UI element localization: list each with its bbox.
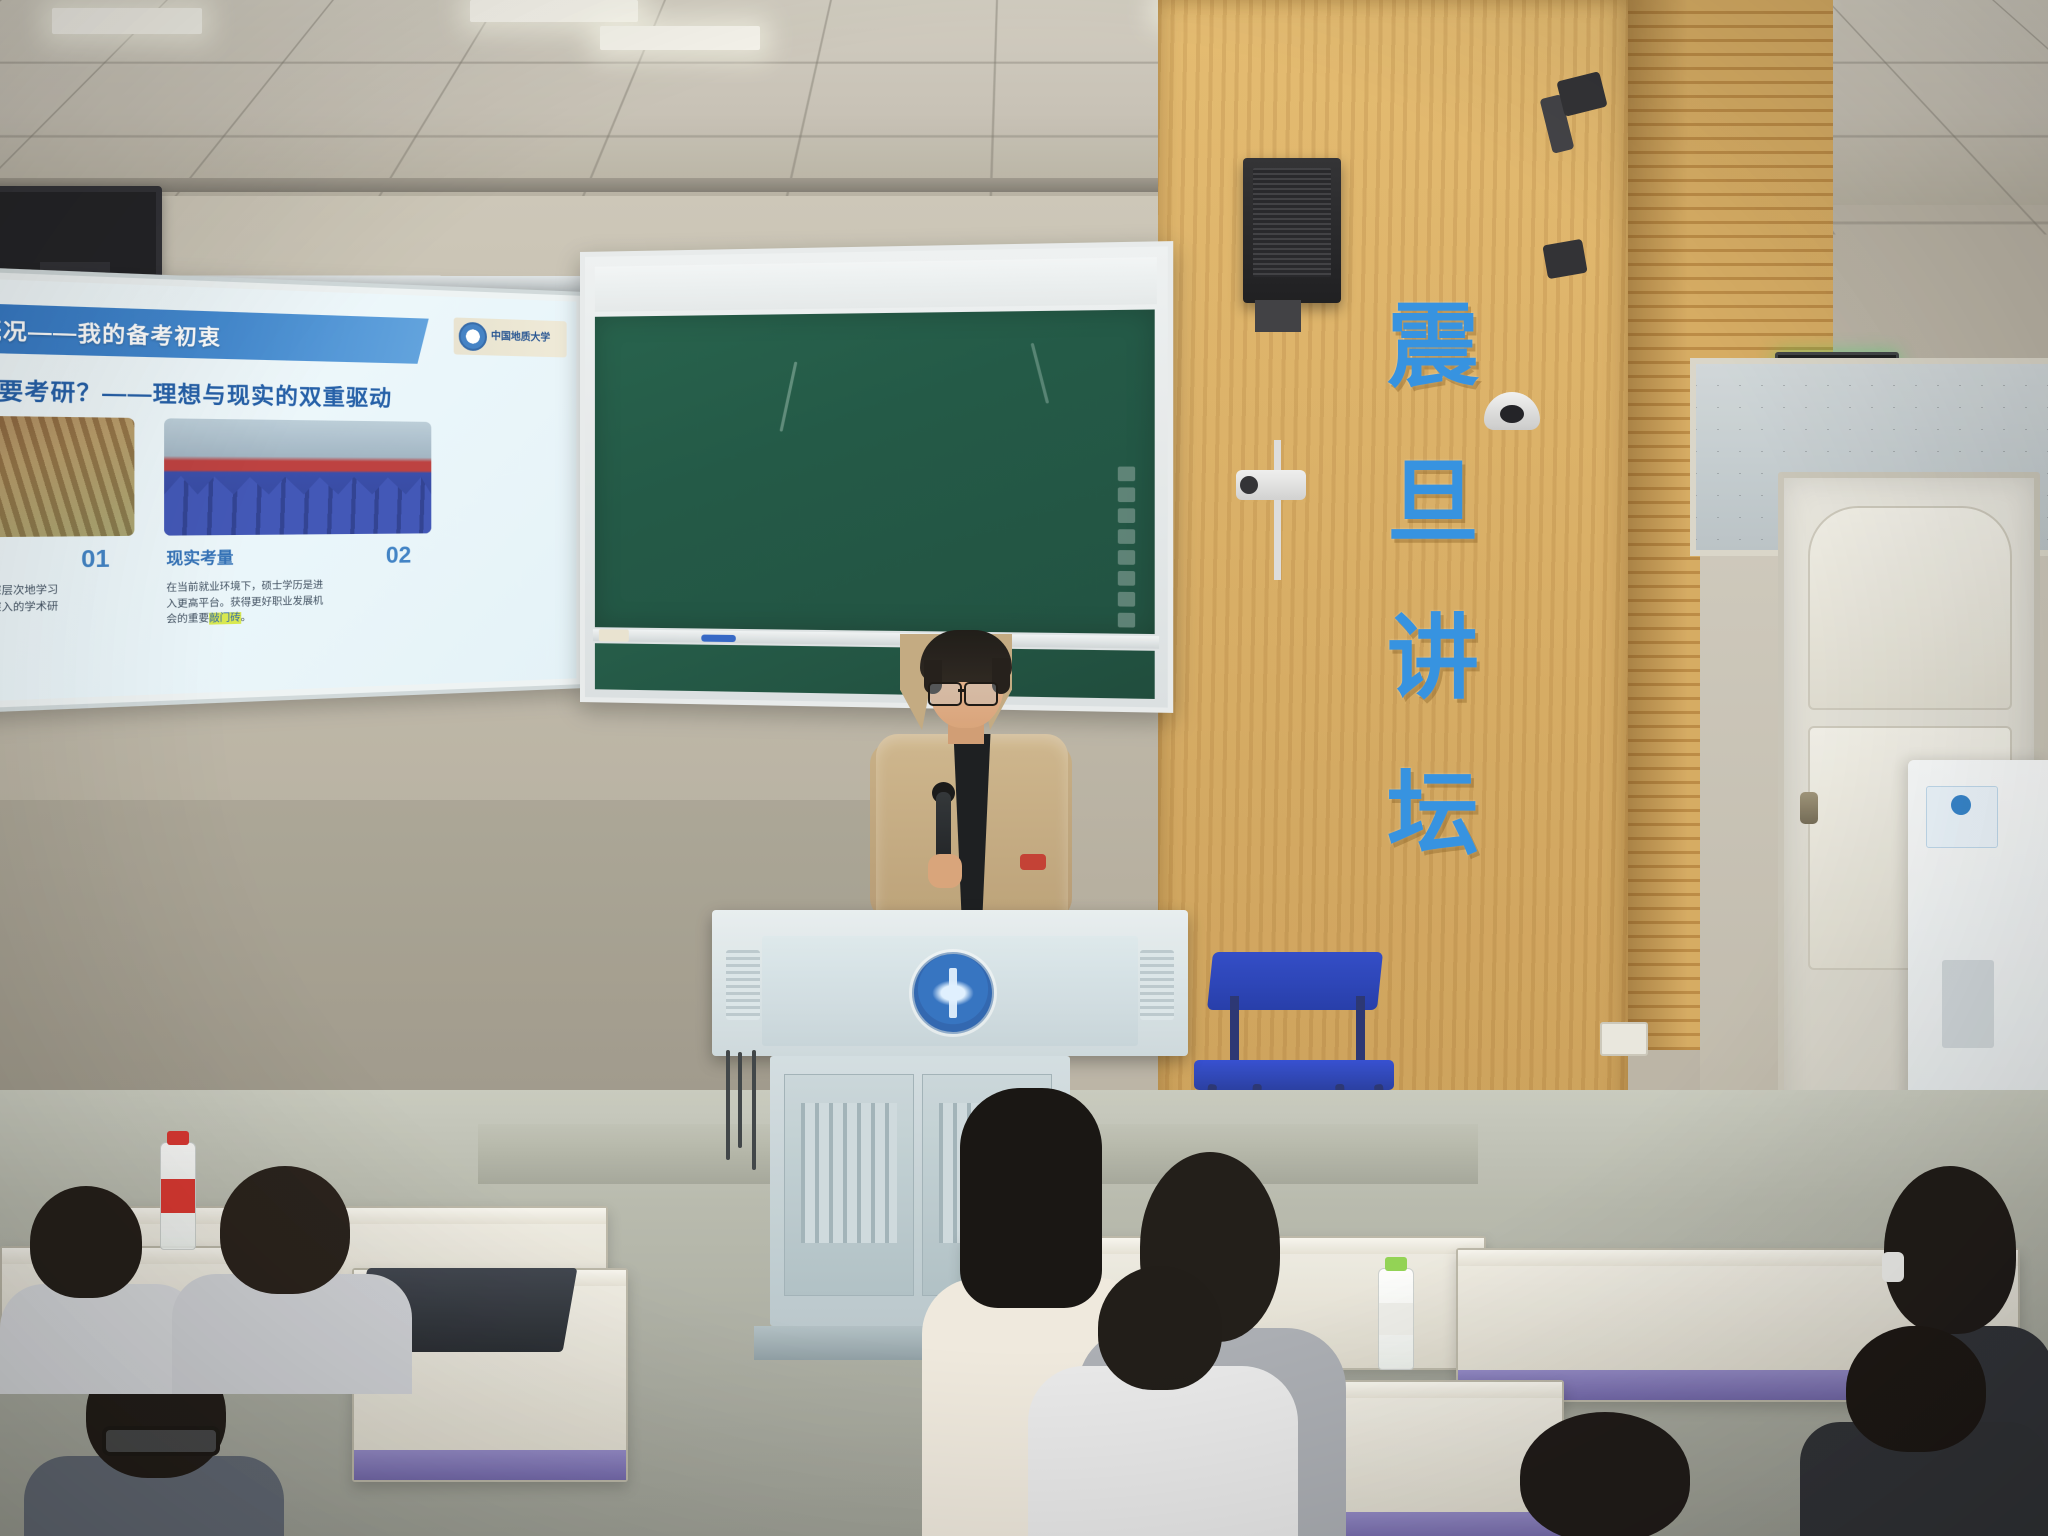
slide-photo-exam-site xyxy=(164,418,431,535)
presentation-slide: 考概况——我的备考初衷 中国地质大学 什么要考研？——理想与现实的双重驱动 01… xyxy=(0,277,576,703)
door-panel-upper xyxy=(1808,506,2012,710)
ceiling-light-2 xyxy=(470,0,638,22)
audience-head xyxy=(220,1166,350,1294)
water-bottle-right[interactable] xyxy=(1378,1268,1414,1370)
slide-subtitle: 什么要考研？——理想与现实的双重驱动 xyxy=(0,372,392,413)
blackboard-button-4[interactable] xyxy=(1118,529,1135,544)
slide-logo-text: 中国地质大学 xyxy=(491,332,550,344)
cabinet-label-sticker xyxy=(1926,786,1998,848)
podium-speaker-grill-right xyxy=(1140,950,1174,1020)
wood-slat-shadow xyxy=(1628,0,1688,1050)
ceiling-light-1 xyxy=(52,8,202,34)
slide-column-2-number: 02 xyxy=(386,542,411,569)
podium-speaker-grill-left xyxy=(726,950,760,1020)
desk-purple-front xyxy=(354,1450,626,1480)
podium-vent-left xyxy=(801,1103,897,1243)
audience-member-center-white-shirt xyxy=(1028,1266,1298,1536)
audience-member-left-3 xyxy=(172,1166,412,1386)
ceiling-beam xyxy=(0,178,1250,192)
door-handle[interactable] xyxy=(1800,792,1818,824)
speaker-glasses-bridge xyxy=(958,689,966,692)
slide-column-2-highlight: 敲门砖 xyxy=(209,613,241,626)
wall-speaker-bracket xyxy=(1255,300,1301,332)
blackboard-button-7[interactable] xyxy=(1118,592,1135,607)
ceiling-light-3 xyxy=(600,26,760,50)
eraser[interactable] xyxy=(599,629,629,641)
earphone-icon xyxy=(1882,1252,1904,1282)
cabinet-control-panel[interactable] xyxy=(1942,960,1994,1048)
slide-column-1-number: 01 xyxy=(81,545,110,574)
audience-head xyxy=(1520,1412,1690,1536)
speaker-hair xyxy=(920,630,1012,682)
blackboard-button-3[interactable] xyxy=(1118,508,1135,523)
podium-cable-3 xyxy=(752,1050,756,1170)
audience-body xyxy=(1028,1366,1298,1536)
audience-glasses xyxy=(102,1426,220,1456)
blackboard-writing-surface xyxy=(595,309,1155,634)
blackboard-button-1[interactable] xyxy=(1118,467,1135,482)
blackboard-upper-panel xyxy=(595,257,1157,312)
audience-head xyxy=(1846,1326,1986,1452)
blackboard-button-2[interactable] xyxy=(1118,487,1135,502)
wall-power-outlet[interactable] xyxy=(1600,1022,1648,1056)
chalk-mark xyxy=(779,361,797,431)
audience-head xyxy=(1098,1266,1222,1390)
podium-door-left[interactable] xyxy=(784,1074,914,1296)
wall-character-4: 坛 xyxy=(1387,768,1479,860)
slide-column-2-body-tail: 。 xyxy=(241,612,251,624)
speaker-person xyxy=(860,630,1090,930)
podium-cable-1 xyxy=(726,1050,730,1160)
podium-university-seal xyxy=(912,952,994,1034)
bottle-cap-icon xyxy=(167,1131,189,1145)
blackboard-button-5[interactable] xyxy=(1118,550,1135,565)
speaker-hand xyxy=(928,854,962,888)
wall-lecture-forum-characters: 震 旦 讲 坛 xyxy=(1358,300,1508,860)
lecture-hall-photo: 震 旦 讲 坛 考概况——我的备考初衷 中国地质大学 什么要考研？——理想与现实… xyxy=(0,0,2048,1536)
wall-character-2: 旦 xyxy=(1387,456,1479,548)
speaker-wristwatch xyxy=(1020,854,1046,870)
bottle-label xyxy=(1379,1303,1413,1335)
chair-seat xyxy=(1194,1060,1394,1090)
audience-member-right-dark xyxy=(1800,1326,2048,1536)
podium-cable-2 xyxy=(738,1052,742,1148)
blackboard-button-6[interactable] xyxy=(1118,571,1135,586)
wall-character-1: 震 xyxy=(1387,300,1479,392)
wall-character-3: 讲 xyxy=(1387,612,1479,704)
projection-screen: 考概况——我的备考初衷 中国地质大学 什么要考研？——理想与现实的双重驱动 01… xyxy=(0,265,586,714)
slide-column-1-body: 有兴趣，读研能够更深层次地学习专在地学领域进行更深入的学术研究，科研素养。 xyxy=(0,583,67,637)
speaker-glasses-left-lens xyxy=(928,682,962,706)
slide-university-logo: 中国地质大学 xyxy=(454,317,567,357)
wall-speaker-box xyxy=(1243,158,1341,303)
chalk-mark xyxy=(1031,343,1050,404)
slide-column-2-body: 在当前就业环境下，硕士学历是进入更高平台。获得更好职业发展机会的重要敲门砖。 xyxy=(166,578,331,629)
security-camera-right-icon xyxy=(1542,239,1587,279)
audience-body xyxy=(0,1284,200,1394)
university-seal-icon xyxy=(459,322,487,352)
slide-column-2-caption: 现实考量 xyxy=(166,546,233,570)
blackboard-control-buttons[interactable] xyxy=(1118,467,1135,628)
blackboard-button-8[interactable] xyxy=(1118,613,1135,628)
whiteboard-marker[interactable] xyxy=(701,635,736,643)
bottle-cap-icon xyxy=(1385,1257,1407,1271)
slide-photo-tents xyxy=(164,473,431,536)
slide-photo-rock-strata xyxy=(0,414,134,538)
audience-head xyxy=(30,1186,142,1298)
camera-pole xyxy=(1274,440,1281,580)
audience-member-left-2 xyxy=(0,1186,200,1386)
ptz-camera-icon xyxy=(1236,470,1306,500)
speaker-glasses-right-lens xyxy=(964,682,998,706)
speaker-jacket xyxy=(876,734,1068,934)
audience-member-bottom-center xyxy=(1470,1412,1740,1536)
audience-head xyxy=(1884,1166,2016,1334)
